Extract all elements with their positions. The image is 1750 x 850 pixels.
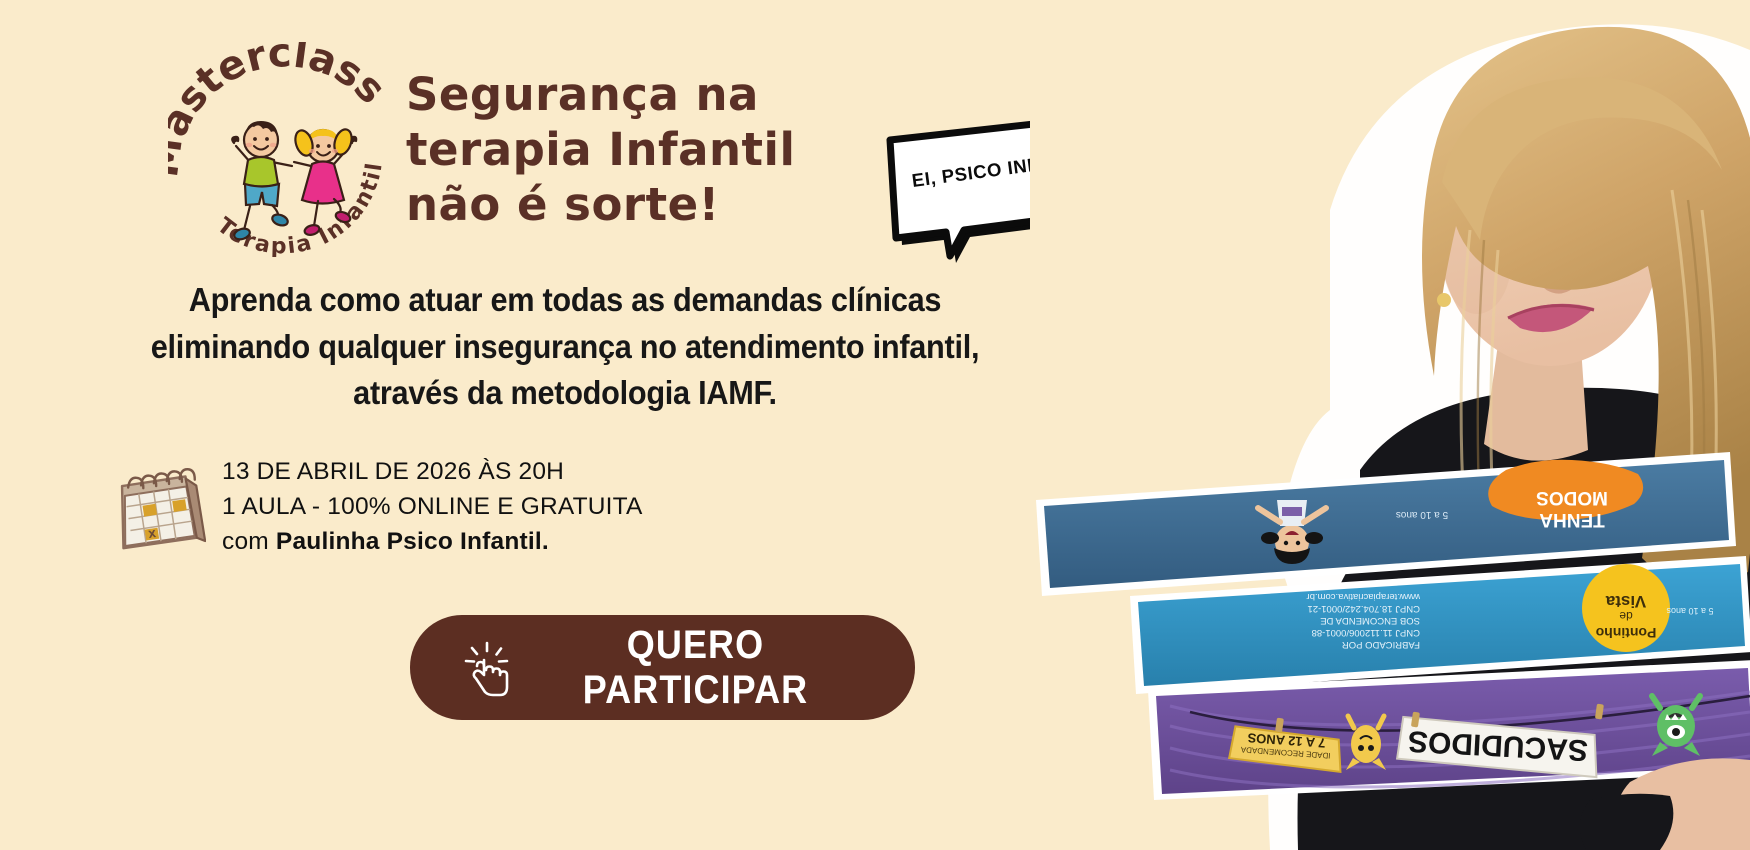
svg-text:MODOS: MODOS (1536, 487, 1608, 508)
event-host-name: Paulinha Psico Infantil. (276, 528, 549, 555)
presenter-photo: MODOS TENHA 5 a 10 anos (1030, 0, 1750, 850)
event-info: X 13 DE ABRIL DE 2026 ÀS 20H 1 AULA - 10… (110, 455, 643, 559)
calendar-icon: X (110, 459, 206, 555)
click-hand-icon (458, 639, 516, 697)
headline-line-1: Segurança na (406, 68, 826, 123)
event-format: 1 AULA - 100% ONLINE E GRATUITA (222, 490, 643, 525)
svg-text:Terapia Infantil: Terapia Infantil (212, 160, 388, 257)
svg-text:FABRICADO POR: FABRICADO POR (1342, 639, 1420, 650)
page-title: Segurança na terapia Infantil não é sort… (406, 68, 826, 233)
masterclass-logo: Masterclass Terapia Infantil (168, 42, 398, 257)
event-text-lines: 13 DE ABRIL DE 2026 ÀS 20H 1 AULA - 100%… (222, 455, 643, 559)
subhead-line-3: através da metodologia IAMF. (95, 370, 1034, 417)
svg-text:5 a 10 anos: 5 a 10 anos (1666, 606, 1714, 616)
svg-text:CNPJ 11.112006/0001-88: CNPJ 11.112006/0001-88 (1312, 627, 1420, 638)
event-host: com Paulinha Psico Infantil. (222, 525, 643, 560)
svg-text:SOB ENCOMENDA DE: SOB ENCOMENDA DE (1320, 615, 1420, 626)
svg-text:Vista: Vista (1605, 592, 1646, 611)
event-host-prefix: com (222, 528, 276, 555)
subheading: Aprenda como atuar em todas as demandas … (95, 277, 1034, 417)
headline-line-2: terapia Infantil (406, 123, 826, 178)
logo-girl-figure (292, 127, 356, 236)
svg-text:CNPJ 18.704.242/0001-21: CNPJ 18.704.242/0001-21 (1308, 603, 1421, 614)
subhead-line-2: eliminando qualquer insegurança no atend… (95, 324, 1034, 371)
svg-text:TENHA: TENHA (1539, 509, 1605, 530)
subhead-line-1: Aprenda como atuar em todas as demandas … (95, 277, 1034, 324)
quero-participar-button[interactable]: QUERO PARTICIPAR (410, 615, 915, 720)
event-date: 13 DE ABRIL DE 2026 ÀS 20H (222, 455, 643, 490)
svg-text:Masterclass: Masterclass (168, 42, 394, 180)
svg-text:5 a 10 anos: 5 a 10 anos (1396, 509, 1448, 520)
svg-text:de: de (1619, 609, 1633, 623)
headline-line-3: não é sorte! (406, 178, 826, 233)
svg-text:www.terapiacriativa.com.br: www.terapiacriativa.com.br (1306, 591, 1421, 602)
svg-text:Pontinho: Pontinho (1596, 625, 1657, 641)
promo-banner: Masterclass Terapia Infantil (0, 0, 1750, 850)
cta-label: QUERO PARTICIPAR (534, 623, 857, 713)
